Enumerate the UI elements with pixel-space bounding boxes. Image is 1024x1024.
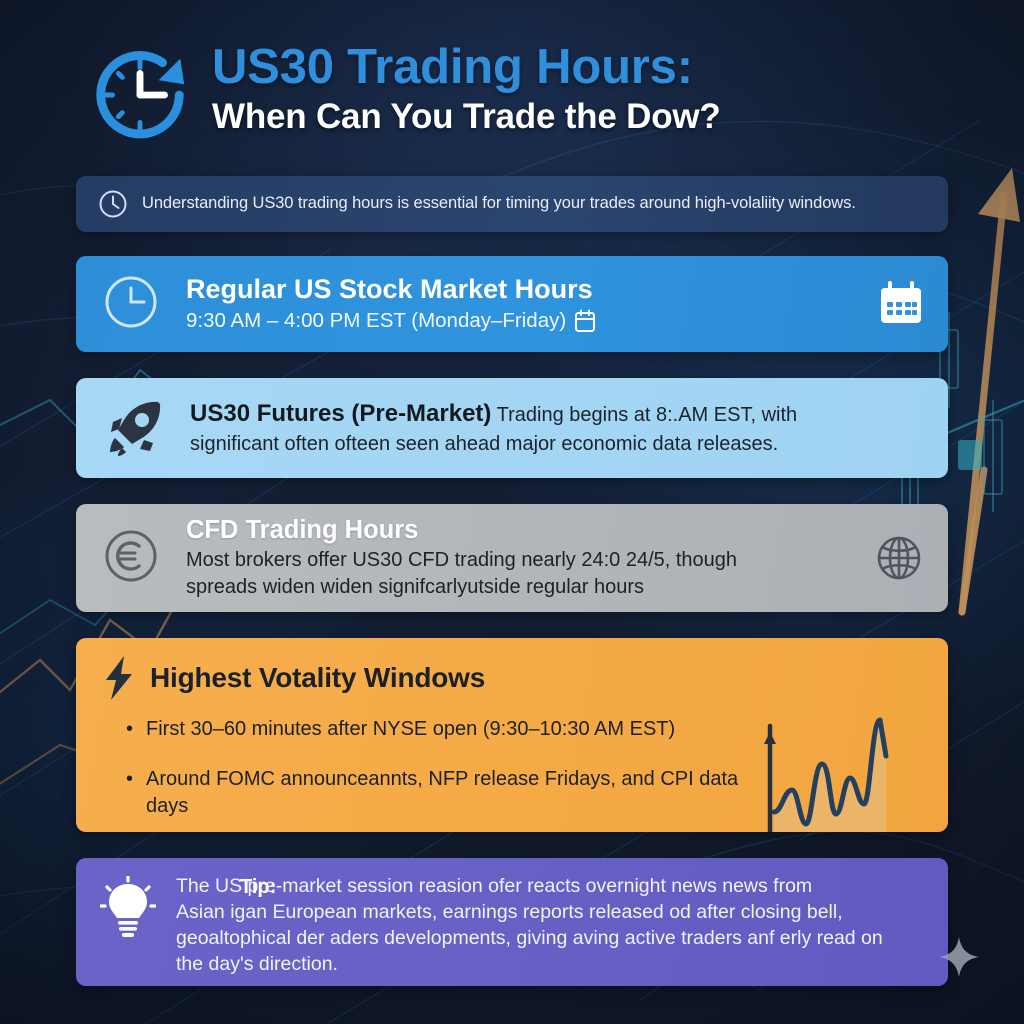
intro-banner: Understanding US30 trading hours is esse…	[76, 176, 948, 232]
card-right-icon-wrap	[870, 281, 924, 327]
clock-icon	[102, 273, 160, 331]
card-line-2: significant often ofteen seen ahead majo…	[190, 431, 922, 458]
card-right-icon-wrap	[866, 533, 924, 583]
card-left-icon-wrap	[102, 392, 174, 465]
list-item: • First 30–60 minutes after NYSE open (9…	[126, 716, 752, 742]
card-heading: Regular US Stock Market Hours	[186, 274, 870, 306]
card-body: • First 30–60 minutes after NYSE open (9…	[102, 716, 922, 832]
card-line-1: US30 Futures (Pre-Market) Trading begins…	[190, 398, 922, 430]
card-heading: US30 Futures (Pre-Market)	[190, 400, 491, 427]
euro-coin-icon	[102, 527, 160, 585]
card-body: Regular US Stock Market Hours 9:30 AM – …	[164, 274, 870, 333]
clock-refresh-icon	[86, 40, 194, 150]
clock-icon	[98, 189, 128, 219]
rocket-icon	[102, 392, 170, 460]
card-line-1: Most brokers offer US30 CFD trading near…	[186, 547, 866, 573]
card-subline-row: 9:30 AM – 4:00 PM EST (Monday–Friday)	[186, 308, 870, 334]
list-item: • Around FOMC announceannts, NFP release…	[126, 766, 752, 819]
uptrend-arrow-icon	[958, 168, 1020, 612]
page-title: US30 Trading Hours:	[212, 42, 721, 93]
card-subline: 9:30 AM – 4:00 PM EST (Monday–Friday)	[186, 308, 566, 334]
card-body: The US pre-market session reasion ofer r…	[162, 874, 924, 978]
bullet-text: First 30–60 minutes after NYSE open (9:3…	[146, 716, 675, 742]
card-left-icon-wrap	[100, 876, 162, 947]
card-cfd-hours: CFD Trading Hours Most brokers offer US3…	[76, 504, 948, 612]
infographic-poster: US30 Trading Hours: When Can You Trade t…	[0, 0, 1024, 1024]
tip-line-4: the day's direction.	[176, 952, 924, 978]
bullet-marker: •	[126, 766, 133, 819]
tip-line-2: Asian igan European markets, earnings re…	[176, 900, 924, 926]
bullet-list: • First 30–60 minutes after NYSE open (9…	[102, 716, 752, 832]
calendar-small-icon	[574, 309, 596, 333]
card-body: CFD Trading Hours Most brokers offer US3…	[164, 515, 866, 600]
tip-line-3: geoaltophical der aders developments, gi…	[176, 926, 924, 952]
header: US30 Trading Hours: When Can You Trade t…	[86, 36, 966, 158]
calendar-icon	[878, 281, 924, 327]
bullet-text: Around FOMC announceannts, NFP release F…	[146, 766, 752, 819]
card-line-2: spreads widen widen signifcarlyutside re…	[186, 574, 866, 600]
lightbulb-icon	[100, 876, 156, 942]
card-header-row: Highest Votality Windows	[102, 654, 922, 702]
card-tip: The US pre-market session reasion ofer r…	[76, 858, 948, 986]
four-point-star-icon	[938, 936, 980, 978]
card-heading: CFD Trading Hours	[186, 515, 866, 546]
card-heading: Highest Votality Windows	[150, 662, 485, 694]
page-subtitle: When Can You Trade the Dow?	[212, 97, 721, 136]
tip-badge: Tip:	[240, 874, 276, 901]
card-left-icon-wrap	[102, 527, 164, 590]
card-line-1-rest: Trading begins at 8:.AM EST, with	[497, 404, 798, 426]
card-regular-hours: Regular US Stock Market Hours 9:30 AM – …	[76, 256, 948, 352]
tip-line-1: The US pre-market session reasion ofer r…	[176, 874, 924, 900]
bullet-marker: •	[126, 716, 133, 742]
volatility-line-chart-icon	[752, 712, 922, 832]
intro-text: Understanding US30 trading hours is esse…	[142, 194, 856, 214]
lightning-bolt-icon	[102, 654, 136, 702]
globe-icon	[874, 533, 924, 583]
card-highest-volatility: Highest Votality Windows • First 30–60 m…	[76, 638, 948, 832]
card-left-icon-wrap	[102, 273, 164, 336]
card-futures-premarket: US30 Futures (Pre-Market) Trading begins…	[76, 378, 948, 478]
card-body: US30 Futures (Pre-Market) Trading begins…	[174, 398, 922, 457]
